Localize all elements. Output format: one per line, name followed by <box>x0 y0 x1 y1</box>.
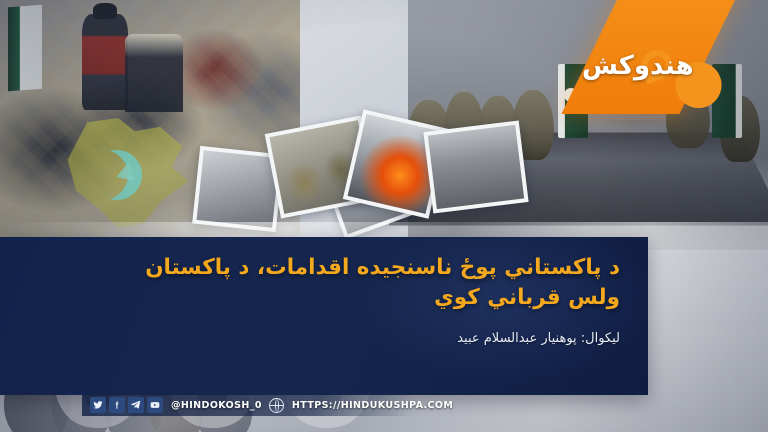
ceremonial-guard <box>82 14 128 110</box>
photo-card-image <box>428 125 524 209</box>
globe-icon <box>269 398 284 413</box>
headline: د پاکستاني پوځ ناسنجیده اقدامات، د پاکست… <box>28 253 620 313</box>
headline-line-2: ولس قرباني کوي <box>28 283 620 313</box>
news-graphic-card: 000 هندوکش د پاکستاني پوځ ناسنجیده اقدام… <box>0 0 768 432</box>
youtube-icon[interactable] <box>147 397 163 413</box>
headline-banner: د پاکستاني پوځ ناسنجیده اقدامات، د پاکست… <box>0 237 648 395</box>
footer-bar: @HINDOKOSH_0 HTTPS://HINDUKUSHPA.COM <box>0 394 768 416</box>
photo-card <box>423 120 528 213</box>
website-url[interactable]: HTTPS://HINDUKUSHPA.COM <box>292 400 453 411</box>
social-handle[interactable]: @HINDOKOSH_0 <box>171 400 262 411</box>
telegram-icon[interactable] <box>128 397 144 413</box>
brand-logo-text: هندوکش <box>582 48 742 84</box>
social-icons <box>90 397 163 413</box>
podium <box>125 34 183 112</box>
twitter-icon[interactable] <box>90 397 106 413</box>
crescent-star-icon <box>78 150 128 200</box>
author-byline: لیکوال: پوهنیار عبدالسلام عبید <box>28 329 620 349</box>
photo-card-image <box>197 150 280 228</box>
headline-line-1: د پاکستاني پوځ ناسنجیده اقدامات، د پاکست… <box>145 255 620 280</box>
pakistan-flag-left <box>8 5 42 91</box>
facebook-icon[interactable] <box>109 397 125 413</box>
